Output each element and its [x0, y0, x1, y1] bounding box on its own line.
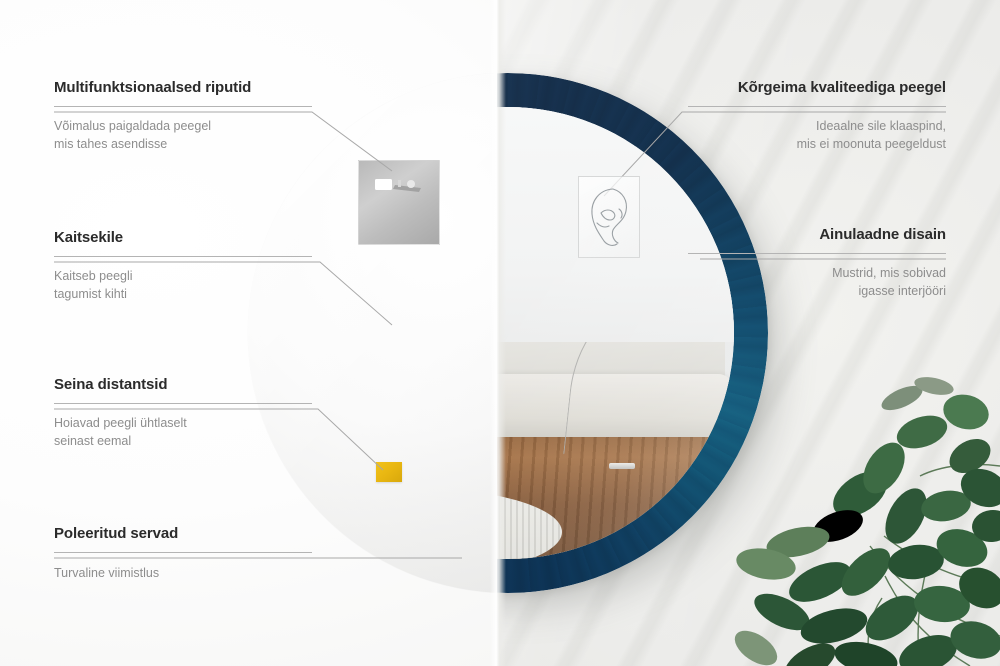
- product-infographic: Multifunktsionaalsed riputid Võimalus pa…: [0, 0, 1000, 666]
- callout-title: Ainulaadne disain: [688, 226, 946, 244]
- line-art-picture-frame: [578, 176, 640, 258]
- callout-rule: [688, 106, 946, 107]
- callout-body-line1: Ideaalne sile klaaspind,: [816, 119, 946, 133]
- callout-poleeritud-servad: Poleeritud servad Turvaline viimistlus: [54, 525, 312, 583]
- callout-body-line1: Kaitseb peegli: [54, 269, 133, 283]
- callout-rule: [54, 106, 312, 107]
- callout-seina-distantsid: Seina distantsid Hoiavad peegli ühtlasel…: [54, 376, 312, 451]
- hanger-hook-icon: [375, 179, 427, 195]
- plant-foliage: [670, 336, 1000, 666]
- callout-body-line2: tagumist kihti: [54, 287, 127, 301]
- leaf-cluster: [729, 374, 1000, 666]
- callout-korgeima-kvaliteediga-peegel: Kõrgeima kvaliteediga peegel Ideaalne si…: [688, 79, 946, 154]
- callout-ainulaadne-disain: Ainulaadne disain Mustrid, mis sobivad i…: [688, 226, 946, 301]
- callout-body-line2: igasse interjööri: [858, 284, 946, 298]
- callout-body: Ideaalne sile klaaspind, mis ei moonuta …: [688, 118, 946, 154]
- callout-body: Mustrid, mis sobivad igasse interjööri: [688, 265, 946, 301]
- callout-title: Seina distantsid: [54, 376, 312, 394]
- callout-rule: [54, 403, 312, 404]
- callout-rule: [54, 552, 312, 553]
- callout-body-line1: Võimalus paigaldada peegel: [54, 119, 211, 133]
- hanger-plate-detail: [358, 160, 440, 245]
- callout-body: Hoiavad peegli ühtlaselt seinast eemal: [54, 415, 312, 451]
- callout-rule: [54, 256, 312, 257]
- callout-body: Kaitseb peegli tagumist kihti: [54, 268, 312, 304]
- callout-body-line2: seinast eemal: [54, 434, 131, 448]
- callout-rule: [688, 253, 946, 254]
- callout-body: Turvaline viimistlus: [54, 565, 312, 583]
- callout-body-line1: Mustrid, mis sobivad: [832, 266, 946, 280]
- callout-kaitsekile: Kaitsekile Kaitseb peegli tagumist kihti: [54, 229, 312, 304]
- wall-spacer-detail: [376, 462, 402, 482]
- callout-title: Kõrgeima kvaliteediga peegel: [688, 79, 946, 97]
- callout-body-line1: Turvaline viimistlus: [54, 566, 159, 580]
- callout-body: Võimalus paigaldada peegel mis tahes ase…: [54, 118, 312, 154]
- callout-body-line2: mis ei moonuta peegeldust: [797, 137, 946, 151]
- face-line-art-icon: [583, 183, 637, 253]
- callout-title: Poleeritud servad: [54, 525, 312, 543]
- callout-title: Kaitsekile: [54, 229, 312, 247]
- callout-body-line1: Hoiavad peegli ühtlaselt: [54, 416, 187, 430]
- callout-body-line2: mis tahes asendisse: [54, 137, 167, 151]
- callout-title: Multifunktsionaalsed riputid: [54, 79, 312, 97]
- callout-multifunktsionaalsed-riputid: Multifunktsionaalsed riputid Võimalus pa…: [54, 79, 312, 154]
